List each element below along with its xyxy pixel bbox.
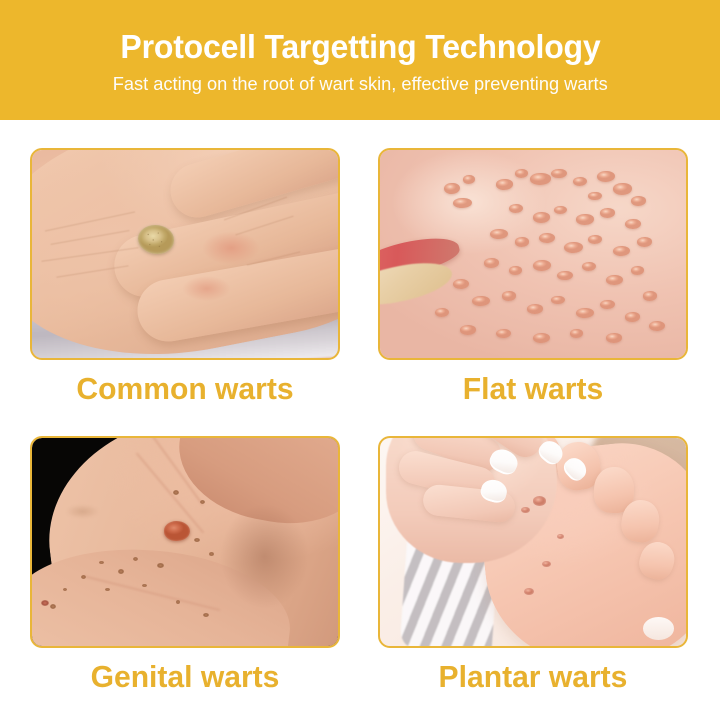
- wart-cluster-flat: [380, 150, 686, 358]
- page-subtitle: Fast acting on the root of wart skin, ef…: [113, 74, 608, 94]
- wart-type-grid: Common warts: [0, 120, 720, 713]
- photo-common-warts: [32, 150, 338, 358]
- page-title: Protocell Targetting Technology: [120, 30, 600, 65]
- card-genital-warts[interactable]: Genital warts: [30, 436, 340, 694]
- photo-frame-common-warts: [30, 148, 340, 360]
- card-common-warts[interactable]: Common warts: [30, 148, 340, 406]
- photo-frame-flat-warts: [378, 148, 688, 360]
- card-caption-plantar-warts: Plantar warts: [383, 660, 684, 694]
- wart-lesion-plantar: [533, 496, 546, 506]
- photo-flat-warts: [380, 150, 686, 358]
- card-caption-common-warts: Common warts: [35, 372, 336, 406]
- photo-genital-warts: [32, 438, 338, 646]
- photo-frame-plantar-warts: [378, 436, 688, 648]
- wart-lesion-genital: [164, 521, 190, 541]
- product-infographic-page: Protocell Targetting Technology Fast act…: [0, 0, 720, 713]
- card-plantar-warts[interactable]: Plantar warts: [378, 436, 688, 694]
- card-caption-flat-warts: Flat warts: [383, 372, 684, 406]
- photo-plantar-warts: [380, 438, 686, 646]
- header-banner: Protocell Targetting Technology Fast act…: [0, 0, 720, 120]
- photo-frame-genital-warts: [30, 436, 340, 648]
- wart-lesion-common: [138, 225, 175, 254]
- card-flat-warts[interactable]: Flat warts: [378, 148, 688, 406]
- card-caption-genital-warts: Genital warts: [35, 660, 336, 694]
